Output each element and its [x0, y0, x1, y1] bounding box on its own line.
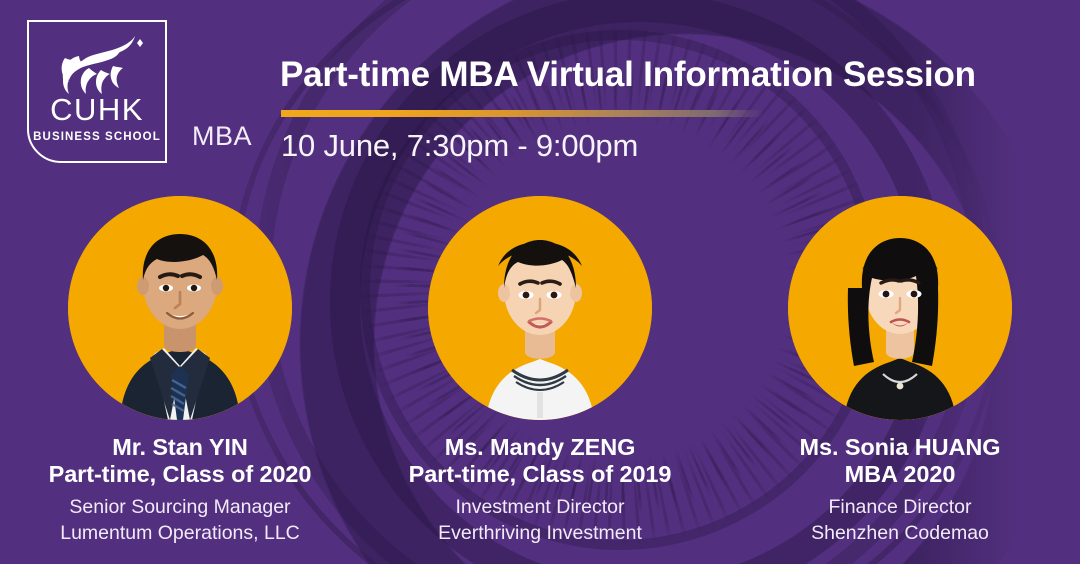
- speaker-card: Mr. Stan YIN Part-time, Class of 2020 Se…: [0, 196, 360, 546]
- logo-wordmark: CUHK: [29, 94, 165, 125]
- avatar: [788, 196, 1012, 420]
- speaker-name-block: Ms. Sonia HUANG MBA 2020: [800, 434, 1001, 489]
- speaker-company: Lumentum Operations, LLC: [60, 521, 300, 547]
- speaker-list: Mr. Stan YIN Part-time, Class of 2020 Se…: [0, 196, 1080, 546]
- speaker-card: Ms. Sonia HUANG MBA 2020 Finance Directo…: [720, 196, 1080, 546]
- event-poster: CUHK BUSINESS SCHOOL MBA Part-time MBA V…: [0, 0, 1080, 564]
- speaker-name-block: Mr. Stan YIN Part-time, Class of 2020: [49, 434, 312, 489]
- speaker-name: Mr. Stan YIN: [49, 434, 312, 461]
- speaker-job-title: Finance Director: [811, 495, 989, 521]
- speaker-name: Ms. Mandy ZENG: [409, 434, 672, 461]
- speaker-role-block: Senior Sourcing Manager Lumentum Operati…: [60, 495, 300, 546]
- avatar: [428, 196, 652, 420]
- speaker-company: Shenzhen Codemao: [811, 521, 989, 547]
- gold-divider-rule: [281, 110, 763, 117]
- speaker-role-block: Finance Director Shenzhen Codemao: [811, 495, 989, 546]
- speaker-role-block: Investment Director Everthriving Investm…: [438, 495, 642, 546]
- speaker-program: Part-time, Class of 2020: [49, 461, 312, 488]
- speaker-name-block: Ms. Mandy ZENG Part-time, Class of 2019: [409, 434, 672, 489]
- speaker-job-title: Senior Sourcing Manager: [60, 495, 300, 521]
- poster-title: Part-time MBA Virtual Information Sessio…: [280, 56, 976, 95]
- mba-program-tag: MBA: [192, 123, 252, 150]
- speaker-company: Everthriving Investment: [438, 521, 642, 547]
- avatar: [68, 196, 292, 420]
- cuhk-business-school-logo: CUHK BUSINESS SCHOOL: [27, 20, 167, 163]
- speaker-name: Ms. Sonia HUANG: [800, 434, 1001, 461]
- speaker-program: MBA 2020: [800, 461, 1001, 488]
- speaker-program: Part-time, Class of 2019: [409, 461, 672, 488]
- speaker-job-title: Investment Director: [438, 495, 642, 521]
- event-datetime: 10 June, 7:30pm - 9:00pm: [281, 128, 638, 164]
- phoenix-icon: [49, 32, 145, 94]
- logo-subtitle: BUSINESS SCHOOL: [29, 132, 165, 144]
- speaker-card: Ms. Mandy ZENG Part-time, Class of 2019 …: [360, 196, 720, 546]
